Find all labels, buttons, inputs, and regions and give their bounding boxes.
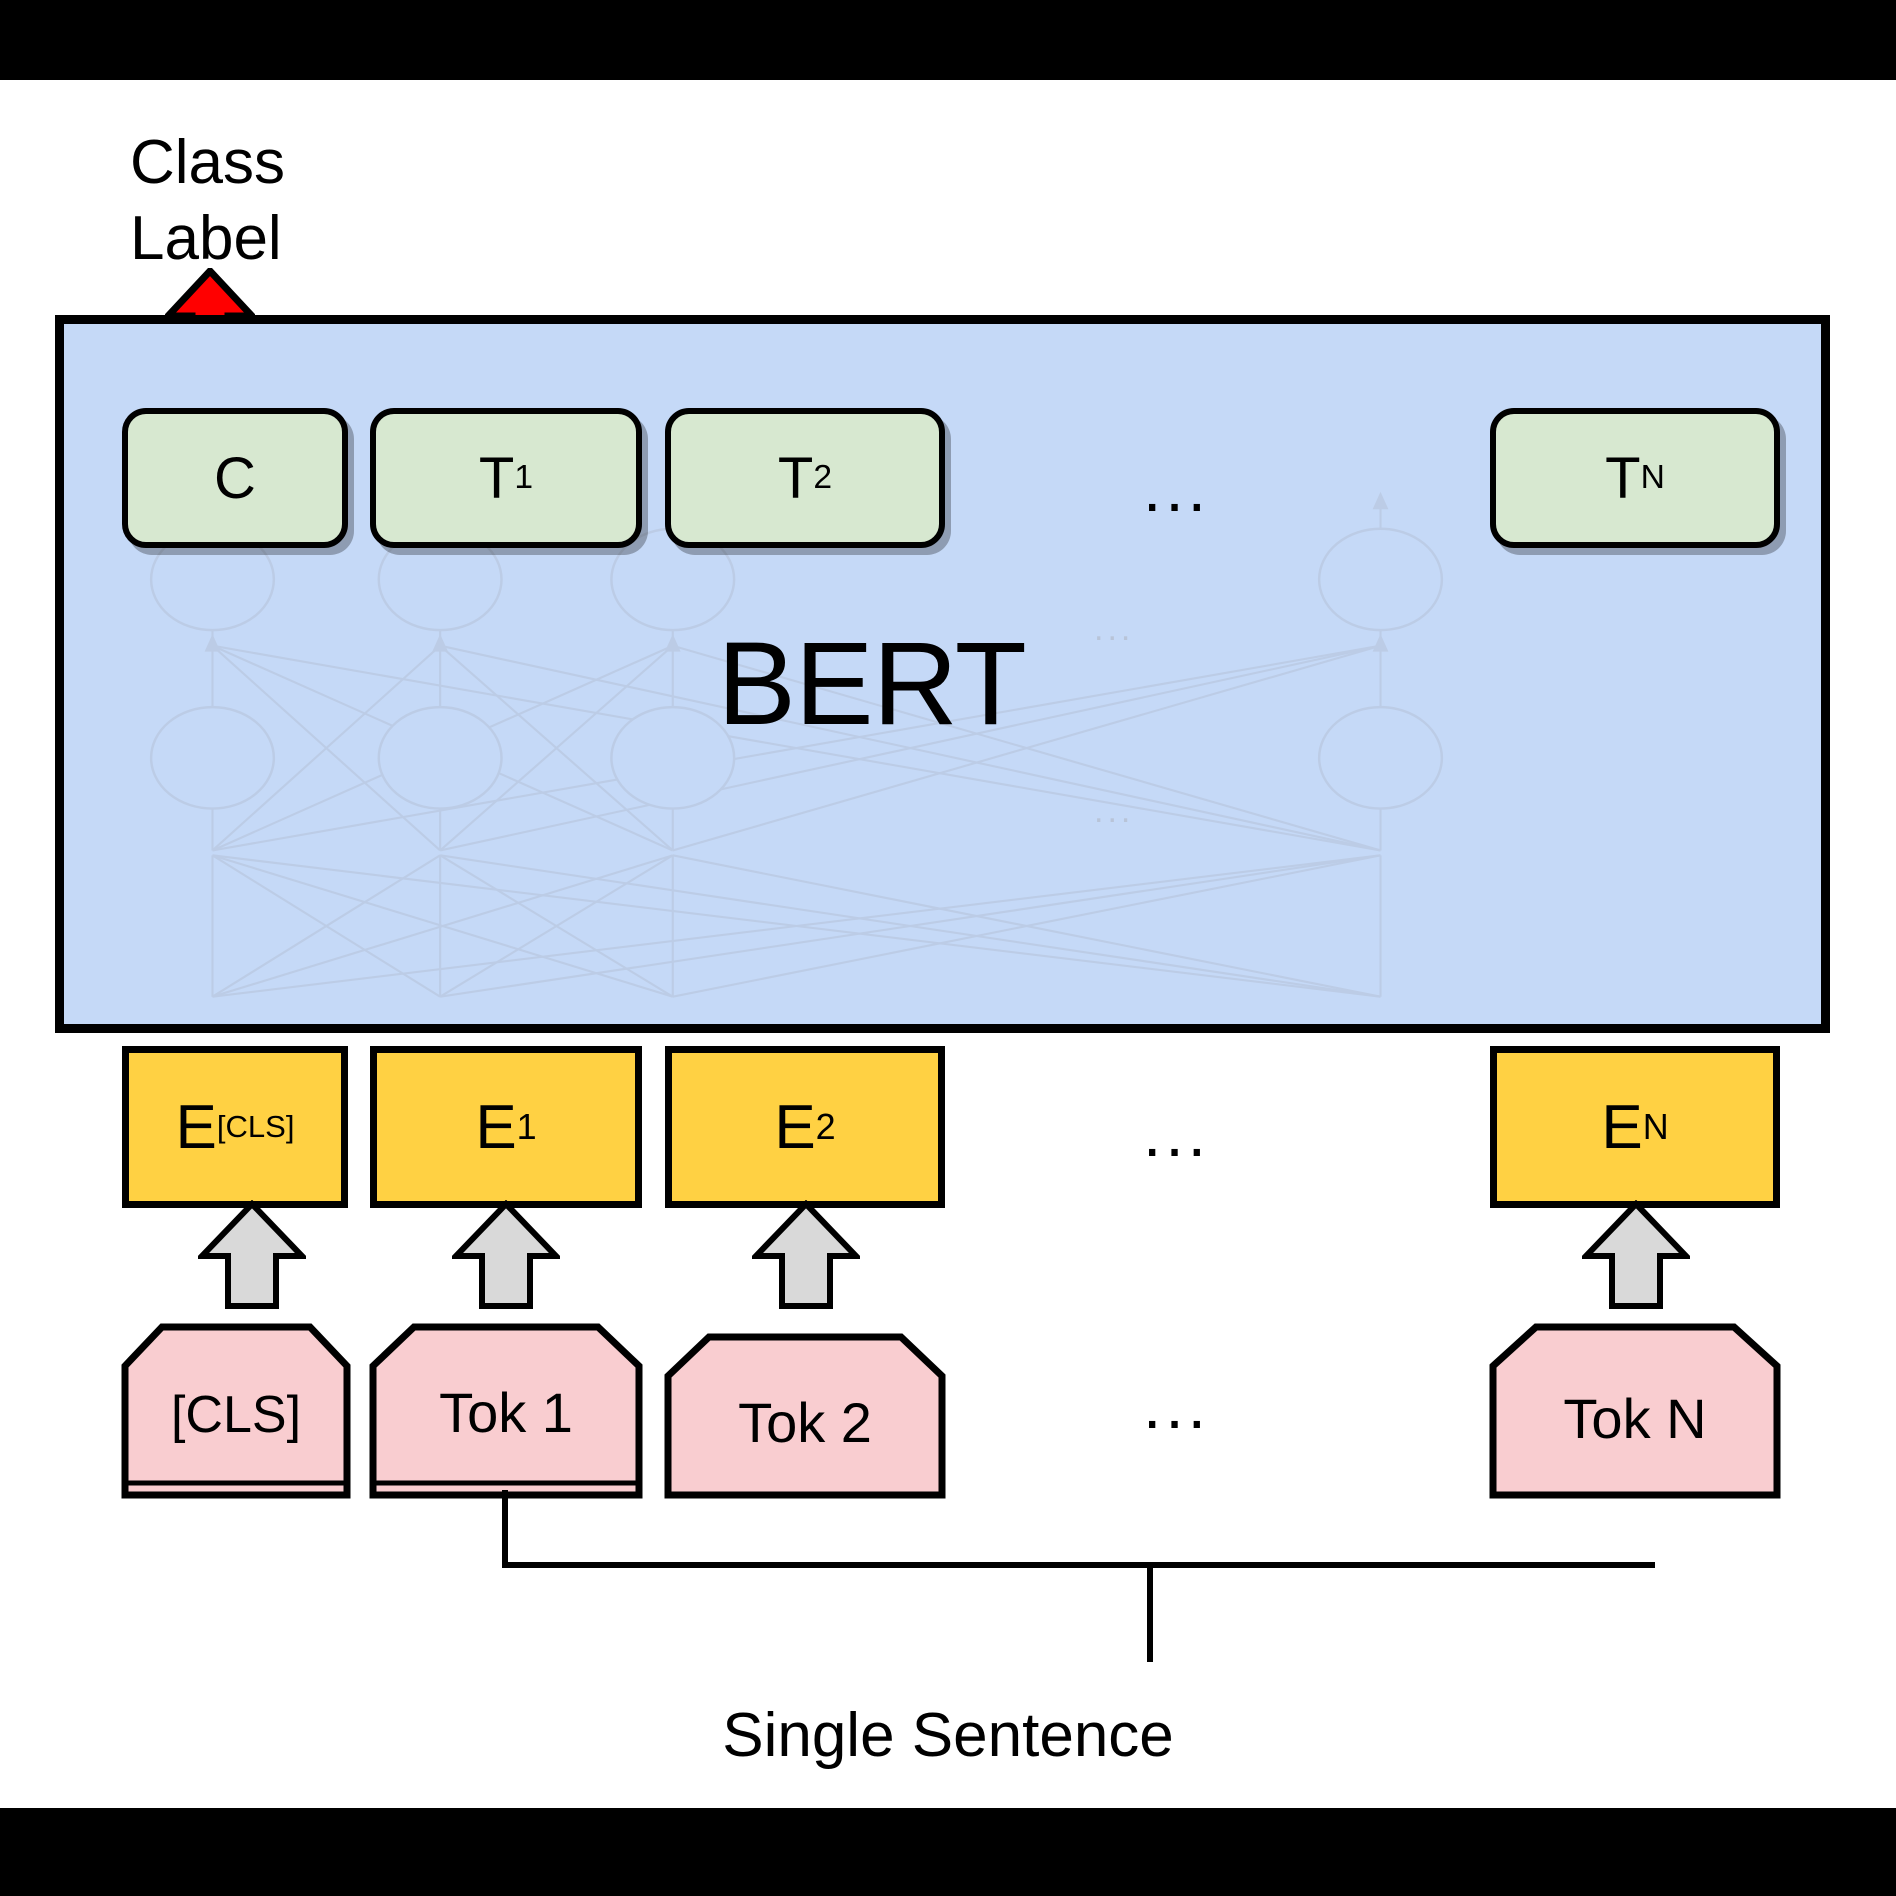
input-arrow-icon-cls <box>198 1200 306 1310</box>
diagram-stage: Class Label <box>0 0 1896 1896</box>
input-token-box-tok1: Tok 1 <box>368 1322 644 1500</box>
input-arrow-icon-tokn <box>1582 1200 1690 1310</box>
output-token-box-tn: TN <box>1490 408 1780 548</box>
output-token-label: C <box>214 445 256 512</box>
output-token-box-t2: T2 <box>665 408 945 548</box>
embedding-row-ellipsis: ... <box>1143 1100 1210 1166</box>
embedding-label: E <box>475 1092 516 1163</box>
output-row-ellipsis: ... <box>1143 455 1210 521</box>
input-token-box-tok2: Tok 2 <box>663 1332 947 1500</box>
embedding-box-en: EN <box>1490 1046 1780 1208</box>
embedding-label: E <box>774 1092 815 1163</box>
output-token-box-t1: T1 <box>370 408 642 548</box>
embedding-subscript: N <box>1643 1106 1669 1148</box>
class-label-text: Class Label <box>130 125 285 276</box>
output-token-subscript: 2 <box>813 459 832 497</box>
output-token-label: T <box>778 445 813 512</box>
input-row-ellipsis: ... <box>1143 1372 1210 1438</box>
output-token-label: T <box>479 445 514 512</box>
embedding-box-e2: E2 <box>665 1046 945 1208</box>
network-ellipsis-lower: ... <box>1094 794 1134 828</box>
bert-model-name: BERT <box>0 616 1759 752</box>
input-token-label: [CLS] <box>171 1386 301 1444</box>
input-token-label: Tok N <box>1563 1387 1706 1450</box>
single-sentence-caption: Single Sentence <box>0 1700 1896 1771</box>
output-token-subscript: 1 <box>514 459 533 497</box>
output-token-box-c: C <box>122 408 348 548</box>
single-sentence-bracket <box>480 1490 1680 1680</box>
embedding-label: E <box>1601 1092 1642 1163</box>
input-arrow-icon-tok1 <box>452 1200 560 1310</box>
output-token-label: T <box>1605 445 1640 512</box>
input-arrow-icon-tok2 <box>752 1200 860 1310</box>
embedding-subscript: 1 <box>517 1106 537 1148</box>
input-token-box-cls: [CLS] <box>120 1322 352 1500</box>
output-token-subscript: N <box>1641 459 1665 497</box>
embedding-label: E <box>176 1092 217 1163</box>
embedding-subscript: 2 <box>816 1106 836 1148</box>
embedding-box-e1: E1 <box>370 1046 642 1208</box>
input-token-label: Tok 1 <box>439 1381 573 1444</box>
embedding-box-cls: E[CLS] <box>122 1046 348 1208</box>
embedding-subscript: [CLS] <box>217 1109 295 1145</box>
input-token-box-tokn: Tok N <box>1488 1322 1782 1500</box>
input-token-label: Tok 2 <box>738 1391 872 1454</box>
